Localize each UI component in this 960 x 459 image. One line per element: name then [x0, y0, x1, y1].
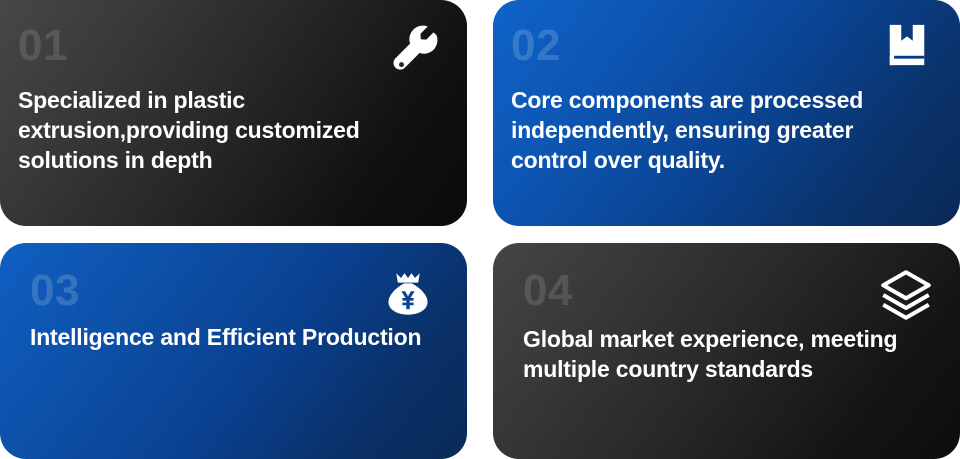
card-text-02: Core components are processed independen…	[511, 86, 932, 176]
card-number-04: 04	[523, 269, 932, 313]
card-number-02: 02	[511, 24, 932, 68]
feature-card-04[interactable]: 04 Global market experience, meeting mul…	[493, 243, 960, 459]
money-bag-yen-icon	[383, 267, 433, 317]
card-text-01: Specialized in plastic extrusion,providi…	[18, 86, 439, 176]
feature-cards-grid: 01 Specialized in plastic extrusion,prov…	[0, 0, 960, 459]
layers-stack-icon	[880, 269, 932, 321]
feature-card-03[interactable]: 03 Intelligence and Efficient Production	[0, 243, 467, 459]
card-text-03: Intelligence and Efficient Production	[30, 323, 439, 353]
feature-card-01[interactable]: 01 Specialized in plastic extrusion,prov…	[0, 0, 467, 226]
card-number-03: 03	[30, 269, 439, 313]
card-number-01: 01	[18, 24, 439, 68]
card-text-04: Global market experience, meeting multip…	[523, 325, 932, 385]
feature-card-02[interactable]: 02 Core components are processed indepen…	[493, 0, 960, 226]
wrench-icon	[391, 24, 439, 72]
book-bookmark-icon	[884, 22, 930, 68]
